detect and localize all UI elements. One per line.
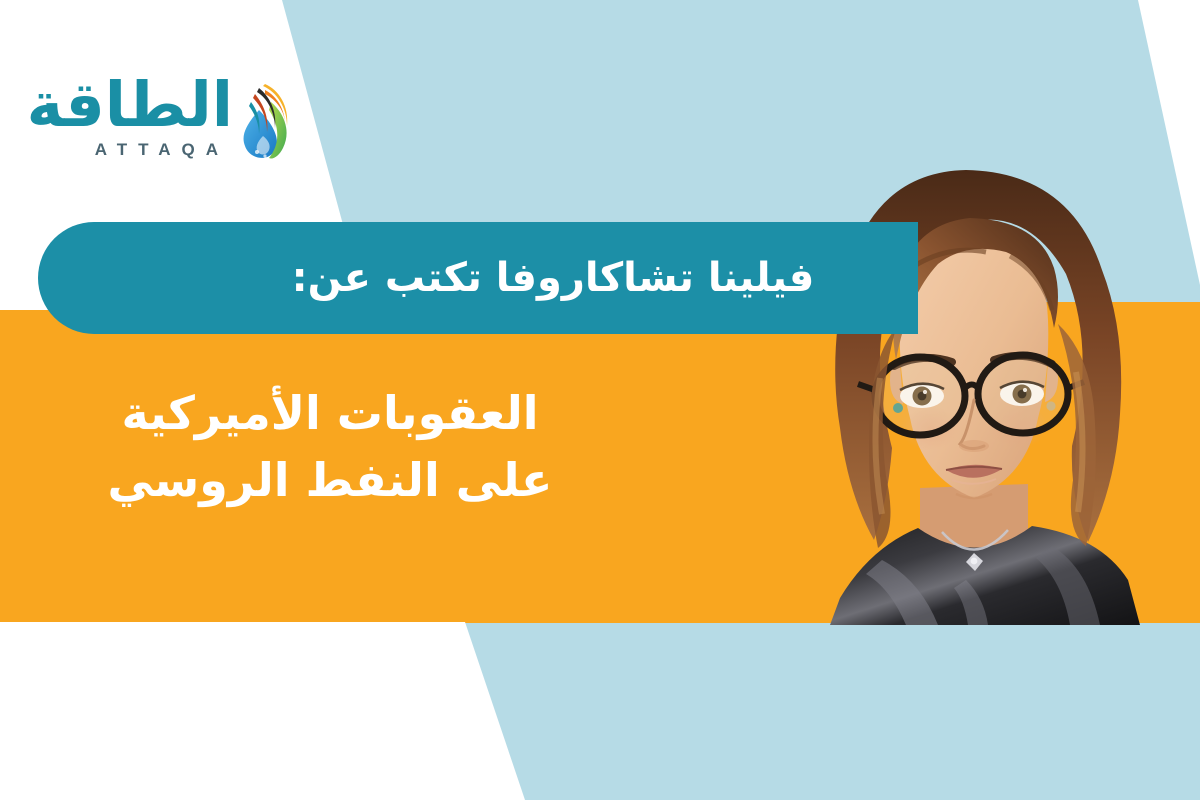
headline-line-1: العقوبات الأميركية bbox=[0, 380, 660, 447]
headline-line-2: على النفط الروسي bbox=[0, 447, 660, 514]
energy-droplet-icon bbox=[235, 80, 295, 168]
background-white-wedge-bottom-left bbox=[0, 622, 530, 800]
headline: العقوبات الأميركية على النفط الروسي bbox=[0, 380, 660, 513]
author-banner: فيلينا تشاكاروفا تكتب عن: bbox=[38, 222, 918, 334]
attaqa-logo[interactable]: الطاقة ATTAQA bbox=[30, 78, 295, 170]
logo-wordmark-arabic: الطاقة bbox=[27, 74, 233, 136]
author-banner-text: فيلينا تشاكاروفا تكتب عن: bbox=[142, 255, 815, 301]
social-media-card: الطاقة ATTAQA bbox=[0, 0, 1200, 800]
logo-wordmark-latin: ATTAQA bbox=[95, 140, 229, 160]
portrait-photo bbox=[770, 128, 1190, 625]
